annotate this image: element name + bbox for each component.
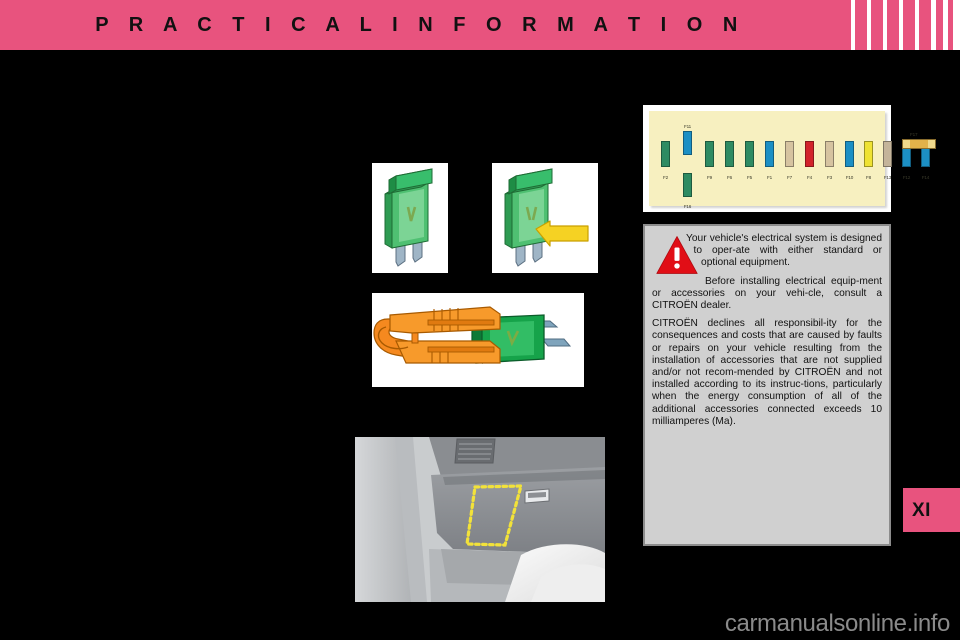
fuse-intact-illustration-panel xyxy=(372,163,448,273)
fuse-f3 xyxy=(825,141,834,167)
fuse-extractor-tool-icon xyxy=(372,293,584,387)
fuse-box-diagram-panel: F2F11F16F9F6F5F1F7F4F3F10F8F13F12F14F17 xyxy=(643,105,891,212)
fuse-f10 xyxy=(845,141,854,167)
fuse-f13 xyxy=(883,141,892,167)
fuse-label-f1: F1 xyxy=(761,175,779,180)
fuse-f6 xyxy=(725,141,734,167)
fuse-label-f3: F3 xyxy=(821,175,839,180)
fuse-f5 xyxy=(745,141,754,167)
blade-fuse-intact-icon xyxy=(372,163,448,273)
header-stripe xyxy=(840,0,851,50)
fuse-label-f11: F11 xyxy=(679,124,697,129)
header-stripe xyxy=(903,0,915,50)
fuse-extractor-illustration-panel xyxy=(372,293,584,387)
fuse-label-f6: F6 xyxy=(721,175,739,180)
fuse-label-f12: F12 xyxy=(898,175,916,180)
header-stripe-gap xyxy=(953,0,960,50)
fuse-label-f14: F14 xyxy=(917,175,935,180)
manual-page: P R A C T I C A L I N F O R M A T I O N … xyxy=(0,0,960,640)
fuse-box-diagram: F2F11F16F9F6F5F1F7F4F3F10F8F13F12F14F17 xyxy=(649,111,885,206)
fuse-f9 xyxy=(705,141,714,167)
header-stripe-pattern xyxy=(840,0,960,50)
header-stripe xyxy=(919,0,931,50)
glovebox-fusebox-location-photo xyxy=(355,437,605,602)
fuse-label-f9: F9 xyxy=(701,175,719,180)
section-tab-label: XI xyxy=(912,500,931,522)
fuse-f2 xyxy=(661,141,670,167)
header-band: P R A C T I C A L I N F O R M A T I O N xyxy=(0,0,840,50)
fuse-label-f8: F8 xyxy=(860,175,878,180)
glovebox-fusebox-photo-panel xyxy=(355,437,605,602)
fuse-f8 xyxy=(864,141,873,167)
fuse-f1 xyxy=(765,141,774,167)
fuse-label-f13: F13 xyxy=(879,175,897,180)
warning-paragraph-3: CITROËN declines all responsibil-ity for… xyxy=(652,318,882,428)
fuse-label-f2: F2 xyxy=(657,175,675,180)
fuse-label-f16: F16 xyxy=(679,204,697,209)
blade-fuse-blown-with-arrow-icon xyxy=(492,163,598,273)
fuse-label-f4: F4 xyxy=(801,175,819,180)
page-title: P R A C T I C A L I N F O R M A T I O N xyxy=(0,0,840,50)
fuse-blown-illustration-panel xyxy=(492,163,598,273)
fuse-row: F2F11F16F9F6F5F1F7F4F3F10F8F13F12F14F17 xyxy=(655,131,879,183)
header-stripe xyxy=(887,0,899,50)
fuse-label-f7: F7 xyxy=(781,175,799,180)
fuse-f7 xyxy=(785,141,794,167)
warning-callout: Your vehicle's electrical system is desi… xyxy=(643,224,891,546)
fuse-f17 xyxy=(902,139,936,149)
site-watermark: carmanualsonline.info xyxy=(725,610,950,638)
header-stripe xyxy=(855,0,867,50)
header-stripe xyxy=(871,0,883,50)
fuse-f16 xyxy=(683,173,692,197)
section-tab-xi[interactable]: XI xyxy=(903,488,960,532)
fuse-f4 xyxy=(805,141,814,167)
fuse-label-f10: F10 xyxy=(841,175,859,180)
fuse-f11 xyxy=(683,131,692,155)
header-stripe xyxy=(936,0,943,50)
fuse-label-f17: F17 xyxy=(910,132,917,137)
warning-paragraph-2: Before installing electrical equip-ment … xyxy=(652,276,882,313)
fuse-label-f5: F5 xyxy=(741,175,759,180)
